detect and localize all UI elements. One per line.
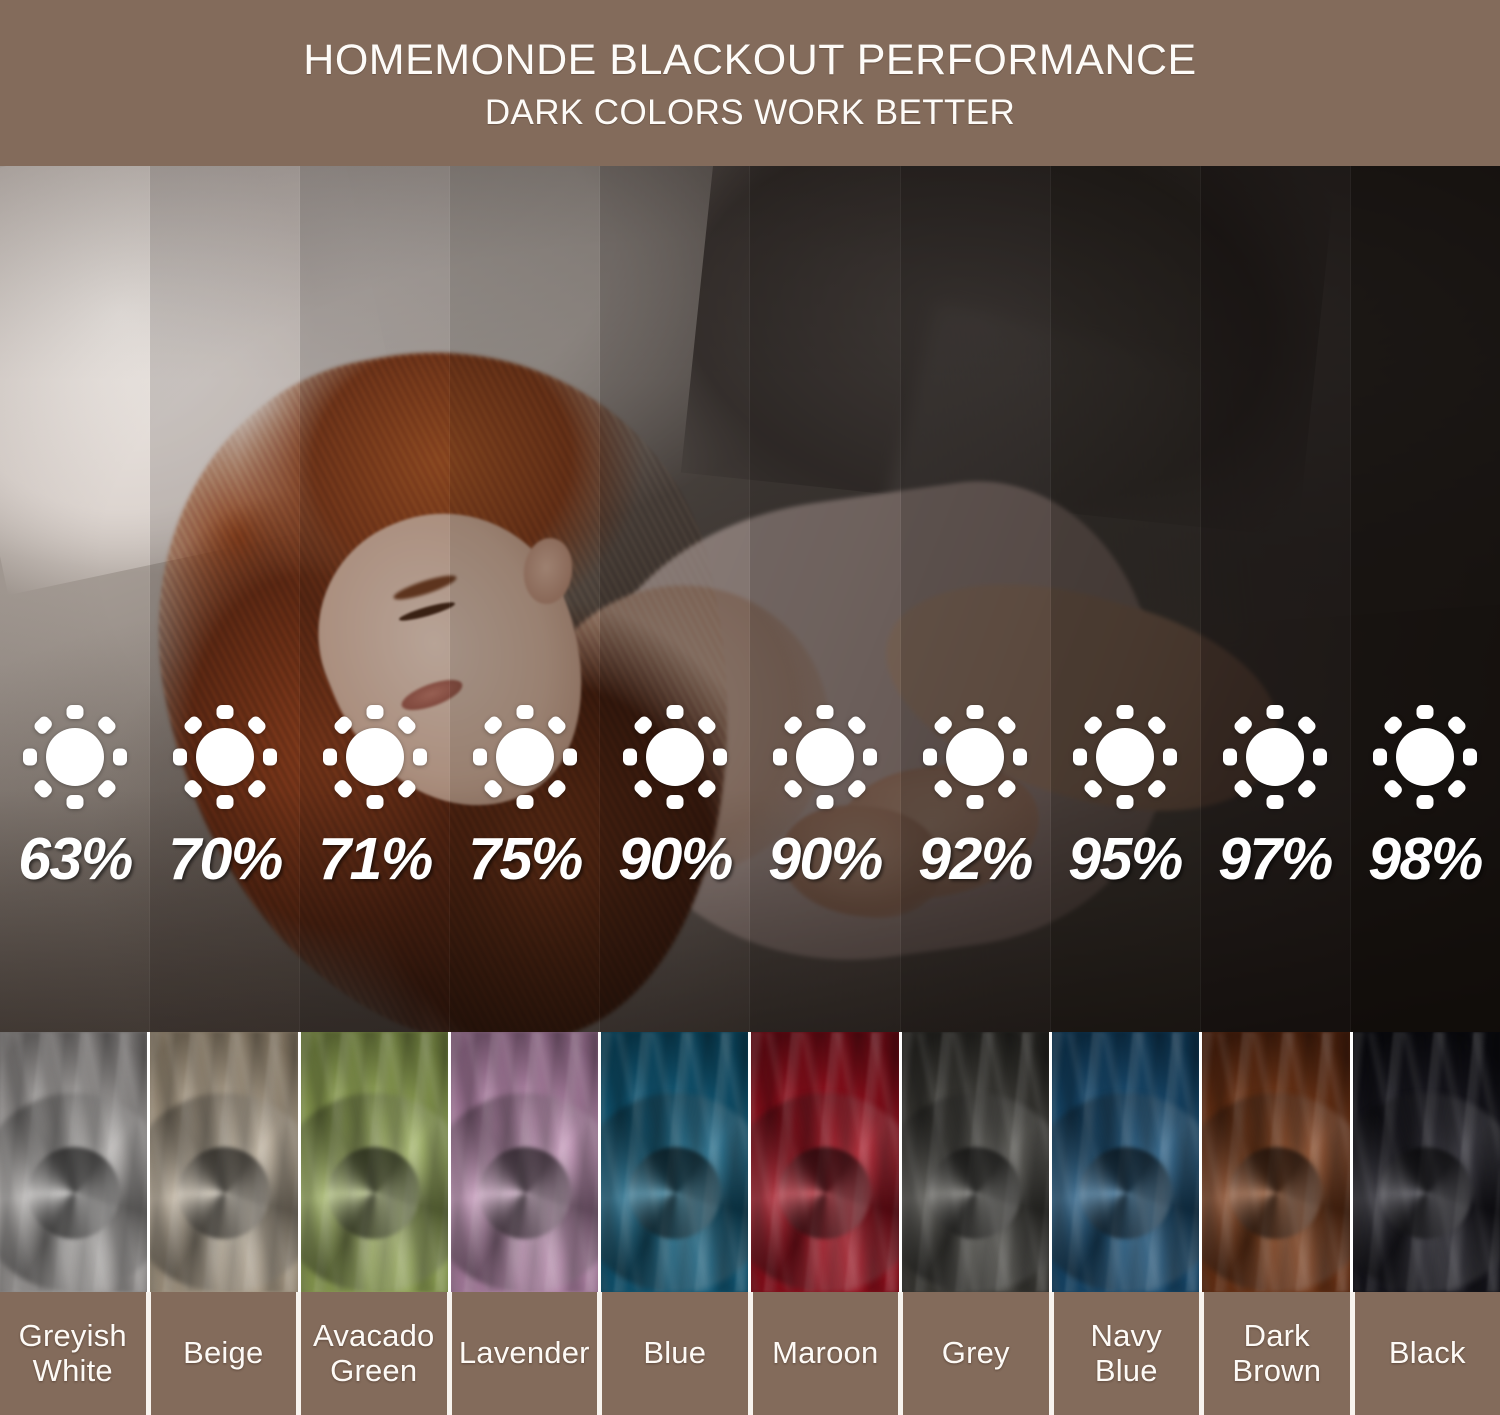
color-label-beige[interactable]: Beige <box>151 1292 302 1415</box>
header-band: HOMEMONDE BLACKOUT PERFORMANCE DARK COLO… <box>0 0 1500 166</box>
sun-icon <box>1216 698 1334 816</box>
blackout-meter-1: 63% <box>0 166 150 1032</box>
blackout-performance-infographic: HOMEMONDE BLACKOUT PERFORMANCE DARK COLO… <box>0 0 1500 1415</box>
fabric-swatch-maroon[interactable] <box>751 1032 901 1292</box>
swatch-swirl-core <box>28 1147 120 1239</box>
blackout-meter-4: 75% <box>450 166 600 1032</box>
swatch-swirl-core <box>178 1147 270 1239</box>
color-label-text: Black <box>1389 1336 1466 1371</box>
color-label-strip: Greyish WhiteBeigeAvacado GreenLavenderB… <box>0 1292 1500 1415</box>
color-label-lavender[interactable]: Lavender <box>452 1292 603 1415</box>
bedroom-photo-strip: 63%70%71%75%90%90%92%95%97%98% <box>0 166 1500 1032</box>
page-title: HOMEMONDE BLACKOUT PERFORMANCE <box>303 38 1196 84</box>
blackout-meter-8: 95% <box>1050 166 1200 1032</box>
color-label-grey[interactable]: Grey <box>903 1292 1054 1415</box>
fabric-swatch-greyish-white[interactable] <box>0 1032 150 1292</box>
sun-icon <box>1366 698 1484 816</box>
color-label-text: Avacado Green <box>305 1319 443 1388</box>
swatch-swirl-core <box>1080 1147 1172 1239</box>
blackout-percent-value: 90% <box>768 830 882 889</box>
swatch-swirl-core <box>779 1147 871 1239</box>
blackout-meter-row: 63%70%71%75%90%90%92%95%97%98% <box>0 166 1500 1032</box>
color-label-blue[interactable]: Blue <box>602 1292 753 1415</box>
fabric-swatch-beige[interactable] <box>150 1032 300 1292</box>
color-label-greyish-white[interactable]: Greyish White <box>0 1292 151 1415</box>
blackout-percent-value: 90% <box>618 830 732 889</box>
sun-icon <box>766 698 884 816</box>
color-label-dark-brown[interactable]: Dark Brown <box>1204 1292 1355 1415</box>
blackout-percent-value: 75% <box>468 830 582 889</box>
sun-icon <box>1066 698 1184 816</box>
blackout-meter-5: 90% <box>600 166 750 1032</box>
blackout-percent-value: 95% <box>1068 830 1182 889</box>
color-label-avacado-green[interactable]: Avacado Green <box>301 1292 452 1415</box>
sun-icon <box>16 698 134 816</box>
fabric-swatch-avacado-green[interactable] <box>301 1032 451 1292</box>
fabric-swatch-black[interactable] <box>1353 1032 1500 1292</box>
blackout-meter-9: 97% <box>1200 166 1350 1032</box>
blackout-percent-value: 71% <box>318 830 432 889</box>
color-label-text: Beige <box>183 1336 263 1371</box>
color-label-navy-blue[interactable]: Navy Blue <box>1054 1292 1205 1415</box>
fabric-swatch-grey[interactable] <box>902 1032 1052 1292</box>
color-label-text: Navy Blue <box>1058 1319 1196 1388</box>
fabric-swatch-dark-brown[interactable] <box>1202 1032 1352 1292</box>
page-subtitle: DARK COLORS WORK BETTER <box>485 94 1015 133</box>
color-label-text: Dark Brown <box>1208 1319 1346 1388</box>
fabric-swatch-navy-blue[interactable] <box>1052 1032 1202 1292</box>
swatch-swirl-core <box>1230 1147 1322 1239</box>
blackout-meter-7: 92% <box>900 166 1050 1032</box>
blackout-percent-value: 70% <box>168 830 282 889</box>
fabric-swatch-strip <box>0 1032 1500 1292</box>
color-label-text: Lavender <box>459 1336 590 1371</box>
color-label-text: Blue <box>643 1336 706 1371</box>
blackout-percent-value: 63% <box>18 830 132 889</box>
color-label-maroon[interactable]: Maroon <box>753 1292 904 1415</box>
sun-icon <box>616 698 734 816</box>
sun-icon <box>916 698 1034 816</box>
swatch-swirl-core <box>479 1147 571 1239</box>
color-label-black[interactable]: Black <box>1355 1292 1500 1415</box>
swatch-swirl-core <box>1380 1147 1472 1239</box>
sun-icon <box>466 698 584 816</box>
color-label-text: Greyish White <box>4 1319 142 1388</box>
blackout-meter-2: 70% <box>150 166 300 1032</box>
blackout-percent-value: 98% <box>1368 830 1482 889</box>
blackout-percent-value: 92% <box>918 830 1032 889</box>
color-label-text: Maroon <box>772 1336 878 1371</box>
swatch-swirl-core <box>629 1147 721 1239</box>
blackout-meter-10: 98% <box>1350 166 1500 1032</box>
fabric-swatch-lavender[interactable] <box>451 1032 601 1292</box>
sun-icon <box>316 698 434 816</box>
blackout-meter-3: 71% <box>300 166 450 1032</box>
color-label-text: Grey <box>942 1336 1010 1371</box>
blackout-percent-value: 97% <box>1218 830 1332 889</box>
blackout-meter-6: 90% <box>750 166 900 1032</box>
swatch-swirl-core <box>328 1147 420 1239</box>
swatch-swirl-core <box>929 1147 1021 1239</box>
fabric-swatch-blue[interactable] <box>601 1032 751 1292</box>
sun-icon <box>166 698 284 816</box>
